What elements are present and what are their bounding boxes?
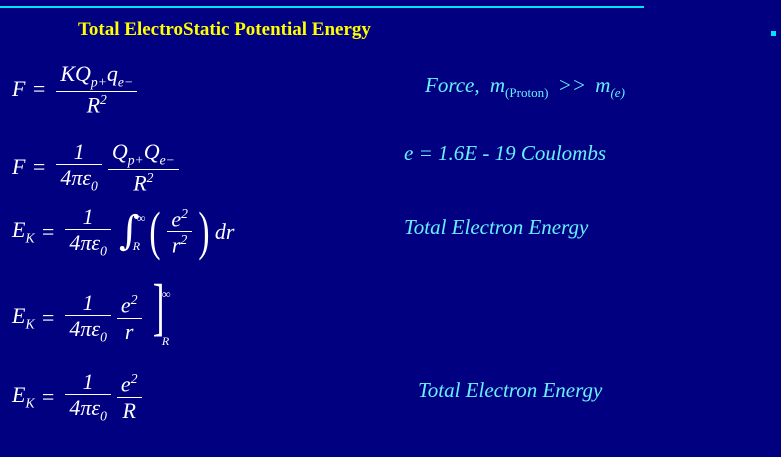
equation-3-lhs-base: E — [12, 217, 25, 242]
equation-4-constant-denominator: 4πε0 — [65, 316, 111, 345]
equation-2-num-sub1: p+ — [128, 152, 144, 167]
equation-3-const-den-text: 4πε — [69, 230, 100, 255]
equation-3-integrand-denominator: r2 — [168, 232, 191, 256]
slide-title: Total ElectroStatic Potential Energy — [78, 19, 371, 41]
equation-4-constant-fraction: 1 4πε0 — [65, 291, 111, 345]
equation-1-num-sub1: p+ — [91, 74, 107, 89]
equation-2-numerator: Qp+Qe− — [108, 140, 179, 169]
equation-5-constant-denominator: 4πε0 — [65, 395, 111, 424]
slide-canvas: Total ElectroStatic Potential Energy F =… — [0, 0, 781, 457]
corner-accent-dot — [771, 31, 776, 36]
equation-4-lhs-base: E — [12, 303, 25, 328]
equation-3-integrand-fraction: e2 r2 — [167, 207, 192, 257]
equation-5-lhs-sub: K — [25, 396, 34, 411]
equation-5-energy-fraction: e2 R — [117, 372, 142, 422]
equation-4-constant-numerator: 1 — [79, 291, 98, 315]
integral-limits: ∞ R — [137, 212, 146, 252]
equation-1-num-factor1: KQ — [60, 61, 91, 86]
equation-1-den-exponent: 2 — [100, 92, 107, 107]
equation-3-integrand-num-exponent: 2 — [181, 206, 188, 221]
equation-4-relation: = — [41, 305, 56, 331]
equation-5-lhs: EK — [12, 382, 35, 411]
equation-2-lhs: F — [12, 154, 25, 180]
header-divider-rule — [0, 6, 644, 8]
note-force-operator: >> — [558, 73, 586, 97]
note-force-var2: m — [595, 73, 610, 97]
equation-5-const-den-text: 4πε — [69, 395, 100, 420]
note-force-sub2: (e) — [610, 85, 624, 100]
equation-2-const-den-sub: 0 — [91, 179, 98, 194]
equation-5-numerator: e2 — [117, 372, 142, 396]
equation-3-const-den-sub: 0 — [100, 243, 107, 258]
note-force-var1: m — [490, 73, 505, 97]
equation-4-num-base: e — [121, 293, 131, 318]
evaluation-bracket-glyph: ] — [152, 287, 164, 349]
note-total-electron-energy-2: Total Electron Energy — [418, 378, 602, 403]
equation-2-denominator: R2 — [129, 170, 157, 194]
equation-4-const-den-sub: 0 — [100, 330, 107, 345]
equation-2-constant-fraction: 1 4πε0 — [56, 140, 102, 194]
equation-1-den-base: R — [87, 92, 100, 117]
integral-upper-limit: ∞ — [137, 212, 146, 224]
equation-1-denominator: R2 — [83, 92, 111, 116]
equation-3-lhs-sub: K — [25, 231, 34, 246]
equation-2-num-factor2: Q — [144, 139, 160, 164]
equation-3-constant-numerator: 1 — [79, 205, 98, 229]
equation-3-integrand-num-base: e — [171, 206, 181, 231]
integral-lower-limit: R — [133, 240, 146, 252]
equation-1-numerator: KQp+qe− — [56, 62, 137, 91]
equation-4-num-exponent: 2 — [131, 292, 138, 307]
equation-2-den-base: R — [133, 170, 146, 195]
equation-1-relation: = — [31, 76, 46, 102]
equation-5-const-den-sub: 0 — [100, 408, 107, 423]
equation-2-num-factor1: Q — [112, 139, 128, 164]
equation-2-constant-denominator: 4πε0 — [56, 165, 102, 194]
equation-3-lhs: EK — [12, 217, 35, 246]
equation-1-num-sub2: e− — [118, 74, 133, 89]
equation-coulomb-force-epsilon: F = 1 4πε0 Qp+Qe− R2 — [12, 140, 182, 194]
equation-2-den-exponent: 2 — [147, 170, 154, 185]
right-paren-icon: ) — [198, 212, 209, 251]
note-force-lead: Force, — [425, 73, 480, 97]
equation-coulomb-force-k: F = KQp+qe− R2 — [12, 62, 140, 116]
equation-5-lhs-base: E — [12, 382, 25, 407]
equation-electron-energy-evaluated: EK = 1 4πε0 e2 r ] ∞ R — [12, 287, 170, 349]
left-paren-icon: ( — [150, 212, 161, 251]
equation-1-lhs: F — [12, 76, 25, 102]
equation-4-lhs-sub: K — [25, 317, 34, 332]
equation-3-constant-fraction: 1 4πε0 — [65, 205, 111, 259]
equation-3-integrand-numerator: e2 — [167, 207, 192, 231]
equation-electron-energy-final: EK = 1 4πε0 e2 R — [12, 370, 145, 424]
integral-operator: ∫ ∞ R — [119, 212, 145, 252]
equation-2-constant-numerator: 1 — [70, 140, 89, 164]
equation-5-constant-fraction: 1 4πε0 — [65, 370, 111, 424]
note-force-sub1: (Proton) — [505, 85, 548, 100]
note-electron-charge: e = 1.6E - 19 Coulombs — [404, 141, 606, 166]
equation-1-fraction: KQp+qe− R2 — [56, 62, 137, 116]
equation-2-charge-fraction: Qp+Qe− R2 — [108, 140, 179, 194]
equation-3-integrand-den-exponent: 2 — [180, 232, 187, 247]
equation-2-relation: = — [31, 154, 46, 180]
equation-4-denominator: r — [121, 319, 138, 343]
equation-5-relation: = — [41, 384, 56, 410]
equation-5-denominator: R — [118, 398, 139, 422]
equation-4-lhs: EK — [12, 303, 35, 332]
equation-3-differential: dr — [215, 219, 235, 245]
equation-5-num-exponent: 2 — [131, 371, 138, 386]
equation-4-const-den-text: 4πε — [69, 316, 100, 341]
equation-5-constant-numerator: 1 — [79, 370, 98, 394]
equation-2-const-den-text: 4πε — [60, 165, 91, 190]
equation-4-energy-fraction: e2 r — [117, 293, 142, 343]
equation-5-num-base: e — [121, 371, 131, 396]
equation-2-num-sub2: e− — [160, 152, 175, 167]
equation-1-num-factor2: q — [107, 61, 118, 86]
equation-3-relation: = — [41, 219, 56, 245]
equation-electron-energy-integral: EK = 1 4πε0 ∫ ∞ R ( e2 r2 ) dr — [12, 205, 234, 259]
note-total-electron-energy-1: Total Electron Energy — [404, 215, 588, 240]
note-force-mass: Force, m(Proton) >> m(e) — [425, 73, 625, 101]
evaluation-bracket: ] ∞ R — [148, 287, 171, 349]
equation-4-numerator: e2 — [117, 293, 142, 317]
equation-3-constant-denominator: 4πε0 — [65, 230, 111, 259]
